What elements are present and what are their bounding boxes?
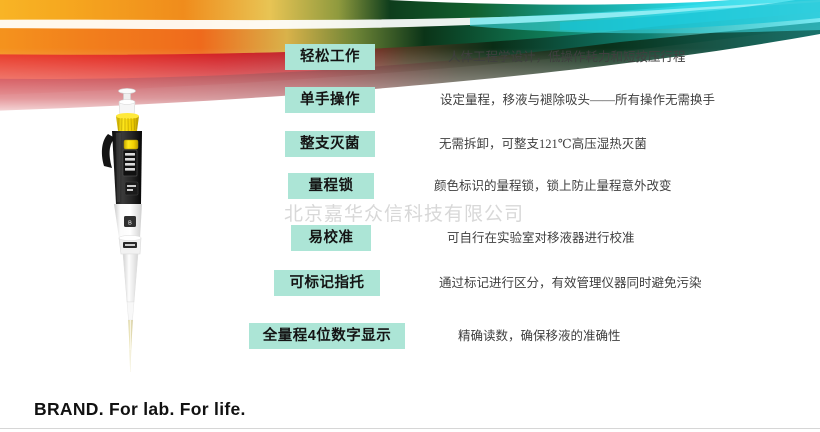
- feature-label-0: 轻松工作: [285, 44, 375, 70]
- feature-row: 可标记指托 通过标记进行区分，有效管理仪器同时避免污染: [236, 270, 816, 296]
- feature-description-0: 人体工程学设计，低操作耗力和短按压行程: [448, 44, 686, 70]
- feature-row: 整支灭菌 无需拆卸，可整支121℃高压湿热灭菌: [236, 131, 816, 157]
- feature-row: 量程锁 颜色标识的量程锁，锁上防止量程意外改变: [236, 173, 816, 199]
- feature-row: 轻松工作 人体工程学设计，低操作耗力和短按压行程: [236, 44, 816, 70]
- feature-description-4: 可自行在实验室对移液器进行校准: [447, 225, 635, 251]
- feature-list: 轻松工作 人体工程学设计，低操作耗力和短按压行程 单手操作 设定量程，移液与褪除…: [0, 0, 820, 432]
- brand-tagline: BRAND. For lab. For life.: [34, 399, 246, 420]
- feature-label-4: 易校准: [291, 225, 371, 251]
- feature-description-2: 无需拆卸，可整支121℃高压湿热灭菌: [439, 131, 647, 157]
- feature-description-3: 颜色标识的量程锁，锁上防止量程意外改变: [434, 173, 672, 199]
- feature-label-3: 量程锁: [288, 173, 374, 199]
- feature-label-2: 整支灭菌: [285, 131, 375, 157]
- feature-row: 易校准 可自行在实验室对移液器进行校准: [236, 225, 816, 251]
- feature-label-6: 全量程4位数字显示: [249, 323, 405, 349]
- feature-description-1: 设定量程，移液与褪除吸头——所有操作无需换手: [440, 87, 715, 113]
- feature-description-5: 通过标记进行区分，有效管理仪器同时避免污染: [439, 270, 702, 296]
- footer-divider: [0, 428, 820, 429]
- feature-description-6: 精确读数，确保移液的准确性: [458, 323, 621, 349]
- product-feature-slide: B 北京嘉华众信科技有限公司 轻松工作 人体工程学设计，低操作耗力和短按压行程 …: [0, 0, 820, 432]
- feature-row: 单手操作 设定量程，移液与褪除吸头——所有操作无需换手: [236, 87, 816, 113]
- feature-label-1: 单手操作: [285, 87, 375, 113]
- feature-row: 全量程4位数字显示 精确读数，确保移液的准确性: [236, 323, 816, 349]
- feature-label-5: 可标记指托: [274, 270, 380, 296]
